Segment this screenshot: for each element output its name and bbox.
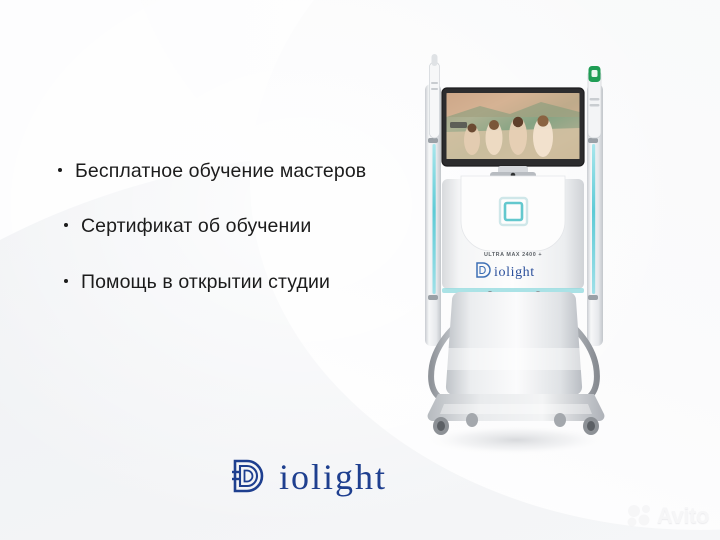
- list-item-label: Бесплатное обучение мастеров: [75, 160, 366, 183]
- floor-shadow: [424, 425, 608, 455]
- benefits-list: Бесплатное обучение мастеров Сертификат …: [58, 160, 438, 294]
- list-item: Бесплатное обучение мастеров: [58, 160, 438, 183]
- lower-body: [446, 292, 582, 395]
- avito-watermark: Avito: [626, 504, 709, 528]
- list-item-label: Помощь в открытии студии: [81, 271, 330, 294]
- display-screen[interactable]: [442, 88, 584, 179]
- device-brand-label: iolight: [494, 265, 535, 280]
- list-item: Помощь в открытии студии: [64, 271, 438, 294]
- led-strip-right: [592, 144, 595, 294]
- list-item: Сертификат об обучении: [64, 215, 438, 238]
- avito-dots-icon: [626, 504, 654, 528]
- avito-label: Avito: [657, 505, 709, 527]
- model-label: ULTRA MAX 2400 +: [484, 252, 542, 258]
- slide-canvas: Бесплатное обучение мастеров Сертификат …: [0, 0, 720, 540]
- product-image-laser-machine: ULTRA MAX 2400 + iolight: [398, 48, 628, 458]
- led-strip-left: [433, 144, 436, 294]
- iolight-d-monogram-icon: [232, 458, 268, 496]
- bullet-dot-icon: [64, 223, 68, 227]
- brand-logo: iolight: [232, 458, 387, 496]
- bullet-dot-icon: [64, 279, 68, 283]
- list-item-label: Сертификат об обучении: [81, 215, 311, 238]
- right-handpiece: [588, 66, 601, 138]
- bullet-dot-icon: [58, 168, 62, 172]
- left-handpiece: [430, 54, 440, 138]
- device-illustration: ULTRA MAX 2400 + iolight: [398, 48, 628, 458]
- brand-wordmark: iolight: [279, 459, 387, 495]
